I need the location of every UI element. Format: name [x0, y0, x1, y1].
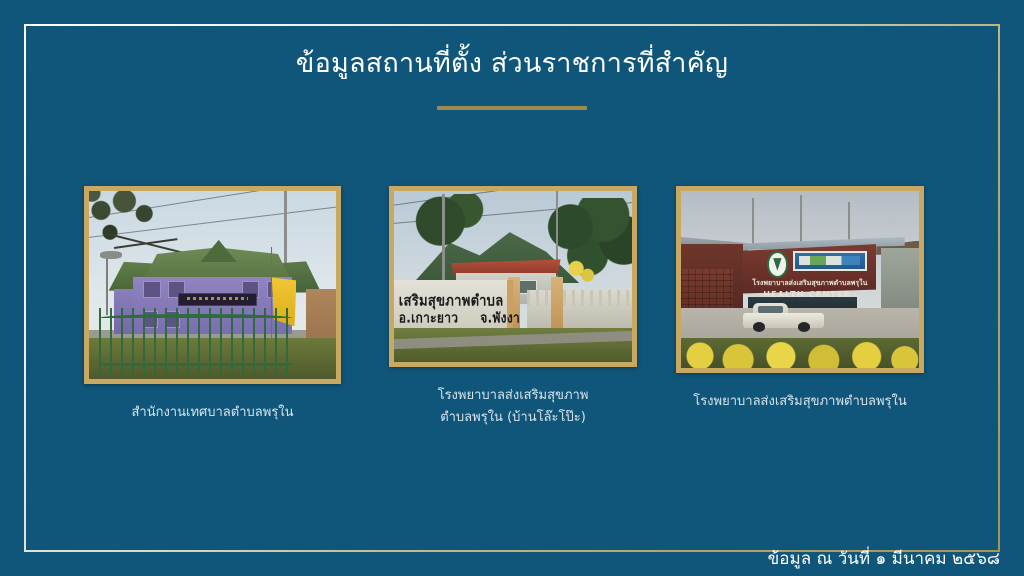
photo-card-3: โรงพยาบาลส่งเสริมสุขภาพตำบลพรุใน HEALTH … [676, 186, 924, 413]
building-sign-thai: โรงพยาบาลส่งเสริมสุขภาพตำบลพรุใน [752, 278, 861, 289]
wall-text-line-2b: จ.พังงา [480, 310, 520, 326]
info-banner [793, 251, 867, 270]
photo-caption-3: โรงพยาบาลส่งเสริมสุขภาพตำบลพรุใน [676, 391, 924, 413]
yellow-flowers [561, 256, 599, 287]
utility-pole-icon [442, 194, 445, 290]
photo-caption-1: สำนักงานเทศบาลตำบลพรุใน [84, 402, 341, 424]
wall-railing [527, 290, 632, 305]
photo-image-3: โรงพยาบาลส่งเสริมสุขภาพตำบลพรุใน HEALTH … [681, 191, 919, 368]
wall-text-line-2: อ.เกาะยาวจ.พังงา [399, 308, 520, 330]
pickup-truck [743, 304, 824, 332]
green-fence-gate [99, 308, 292, 376]
flowering-shrubs [681, 338, 919, 368]
page-title-segment-b: ส่วนราชการที่สำคัญ [482, 48, 728, 79]
street-lamp-post [106, 255, 108, 315]
photo-card-2: เสริมสุขภาพตำบล อ.เกาะยาวจ.พังงา โรงพยาบ… [389, 186, 637, 429]
street-lamp-head [100, 251, 122, 259]
photo-caption-3-line-1: โรงพยาบาลส่งเสริมสุขภาพตำบลพรุใน [676, 391, 924, 413]
antenna-pole-icon [848, 202, 850, 244]
tree-foliage-left [408, 194, 489, 252]
photo-caption-1-line-1: สำนักงานเทศบาลตำบลพรุใน [84, 402, 341, 424]
health-emblem-icon [767, 251, 788, 278]
wall-text-line-2a: อ.เกาะยาว [399, 310, 459, 326]
photo-image-1 [89, 191, 336, 379]
title-block: ข้อมูลสถานที่ตั้ง ส่วนราชการที่สำคัญ [0, 46, 1024, 110]
footer-date: ข้อมูล ณ วันที่ ๑ มีนาคม ๒๕๖๘ [768, 546, 1000, 572]
photo-caption-2-line-2: ตำบลพรุใน (บ้านโล๊ะโป๊ะ) [389, 407, 637, 429]
window [143, 281, 160, 298]
photo-caption-2: โรงพยาบาลส่งเสริมสุขภาพ ตำบลพรุใน (บ้านโ… [389, 385, 637, 429]
photo-frame-3: โรงพยาบาลส่งเสริมสุขภาพตำบลพรุใน HEALTH … [676, 186, 924, 373]
antenna-pole-icon [752, 198, 754, 244]
page-title-segment-a: ข้อมูลสถานที่ตั้ง [296, 48, 482, 79]
building-signboard [178, 293, 257, 306]
slide-root: ข้อมูลสถานที่ตั้ง ส่วนราชการที่สำคัญ [0, 0, 1024, 576]
truck-wheel [753, 322, 765, 332]
antenna-pole-icon [800, 195, 802, 245]
photo-card-1: สำนักงานเทศบาลตำบลพรุใน [84, 186, 341, 424]
photo-frame-2: เสริมสุขภาพตำบล อ.เกาะยาวจ.พังงา [389, 186, 637, 367]
photo-frame-1 [84, 186, 341, 384]
truck-wheel [798, 322, 810, 332]
photo-caption-2-line-1: โรงพยาบาลส่งเสริมสุขภาพ [389, 385, 637, 407]
page-title: ข้อมูลสถานที่ตั้ง ส่วนราชการที่สำคัญ [0, 46, 1024, 82]
title-divider [437, 106, 587, 110]
photo-row: สำนักงานเทศบาลตำบลพรุใน [0, 186, 1024, 466]
photo-image-2: เสริมสุขภาพตำบล อ.เกาะยาวจ.พังงา [394, 191, 632, 362]
